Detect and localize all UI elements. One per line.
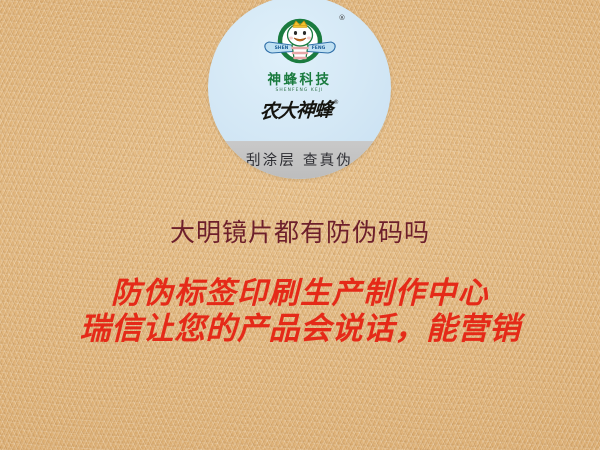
promo-line-primary: 防伪标签印刷生产制作中心 <box>0 276 600 311</box>
scratch-off-band-label: 刮涂层 查真伪 <box>246 149 353 170</box>
brand-chinese-name: 神蜂科技 <box>268 73 332 87</box>
brand-calligraphy-wrap: 农大神蜂 ® <box>260 96 339 123</box>
calligraphy-registered-trademark-icon: ® <box>333 99 339 106</box>
page-title: 大明镜片都有防伪码吗 <box>0 213 600 249</box>
promo-line-secondary: 瑞信让您的产品会说话，能营销 <box>0 311 600 348</box>
poster-canvas: SHEN FENG <box>0 0 600 450</box>
registered-trademark-icon: ® <box>339 14 346 22</box>
scratch-off-band: 刮涂层 查真伪 <box>208 141 391 179</box>
anti-counterfeit-sticker: SHEN FENG <box>208 0 391 179</box>
svg-text:SHEN: SHEN <box>274 45 288 51</box>
brand-pinyin: SHENFENG KEJI <box>275 88 323 93</box>
brand-calligraphy-text: 农大神蜂 <box>259 95 333 124</box>
bee-mascot-emblem: SHEN FENG <box>258 16 342 72</box>
brand-logo-block: SHEN FENG <box>208 16 391 123</box>
svg-text:FENG: FENG <box>311 45 325 51</box>
promo-text-block: 防伪标签印刷生产制作中心 瑞信让您的产品会说话，能营销 <box>0 276 600 348</box>
bee-mascot-svg: SHEN FENG <box>258 16 342 72</box>
